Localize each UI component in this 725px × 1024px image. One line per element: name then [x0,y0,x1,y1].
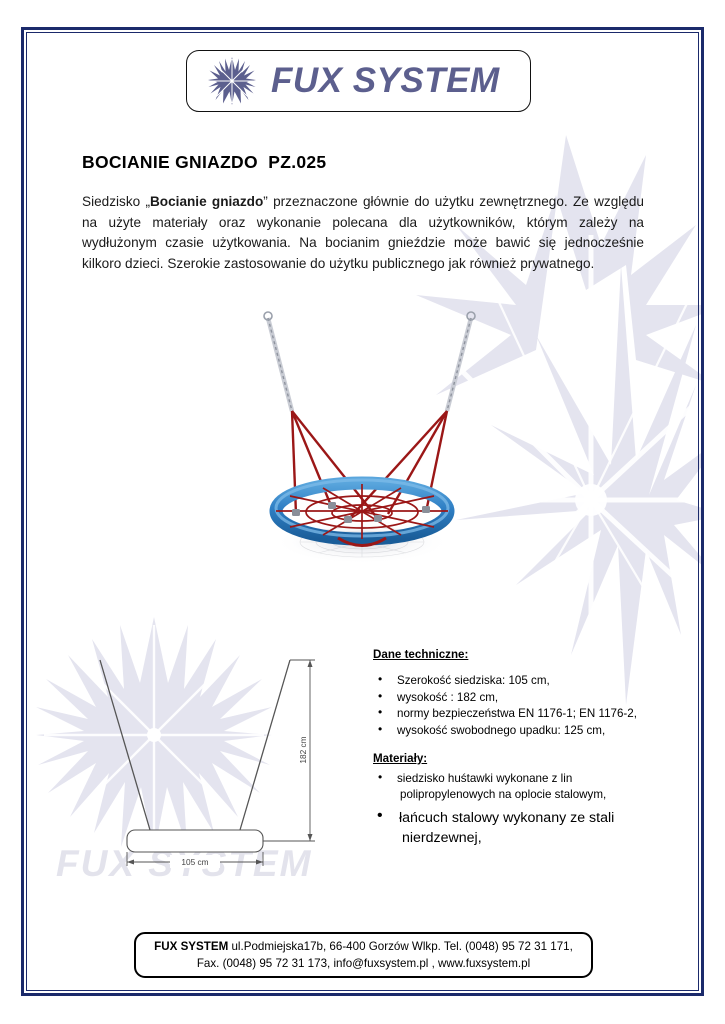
technical-drawing: 182 cm 105 cm [72,642,357,872]
tech-data-list: Szerokość siedziska: 105 cm, wysokość : … [373,673,673,738]
description-bold: Bocianie gniazdo [150,194,263,209]
list-item: normy bezpieczeństwa EN 1176-1; EN 1176-… [373,706,673,722]
material-line-2: nierdzewnej, [399,828,673,848]
footer-company: FUX SYSTEM [154,940,228,953]
product-description: Siedzisko „Bocianie gniazdo” przeznaczon… [82,192,644,274]
page-title: BOCIANIE GNIAZDO PZ.025 [82,152,326,173]
materials-heading: Materiały: [373,752,673,765]
snowflake-star-icon [207,56,257,106]
drawing-chain-left [100,660,150,830]
footer-line-2: Fax. (0048) 95 72 31 173, info@fuxsystem… [197,955,530,972]
drawing-seat [127,830,263,852]
footer-contact-box: FUX SYSTEM ul.Podmiejska17b, 66-400 Gorz… [134,932,593,978]
material-line-1: siedzisko huśtawki wykonane z lin [397,772,572,785]
chain-right [447,312,475,411]
list-item: łańcuch stalowy wykonany ze stali nierdz… [373,808,673,848]
list-item: wysokość : 182 cm, [373,690,673,706]
footer-line-1: FUX SYSTEM ul.Podmiejska17b, 66-400 Gorz… [154,938,573,955]
drawing-chain-right [240,660,290,830]
dimension-height-label: 182 cm [298,736,308,763]
tech-data-heading: Dane techniczne: [373,648,673,661]
product-photo-nest-swing [228,306,496,586]
technical-data-section: Dane techniczne: Szerokość siedziska: 10… [373,648,673,849]
company-logo-box: FUX SYSTEM [186,50,531,112]
description-before: Siedzisko „ [82,194,150,209]
dimension-width-label: 105 cm [181,857,208,867]
chain-left [264,312,292,411]
list-item: wysokość swobodnego upadku: 125 cm, [373,723,673,739]
company-logo-text: FUX SYSTEM [271,61,500,101]
materials-list: siedzisko huśtawki wykonane z lin polipr… [373,771,673,848]
footer-address: ul.Podmiejska17b, 66-400 Gorzów Wlkp. Te… [228,940,573,953]
list-item: Szerokość siedziska: 105 cm, [373,673,673,689]
list-item: siedzisko huśtawki wykonane z lin polipr… [373,771,673,802]
material-line-2: polipropylenowych na oplocie stalowym, [397,787,673,803]
material-line-1: łańcuch stalowy wykonany ze stali [399,810,614,826]
